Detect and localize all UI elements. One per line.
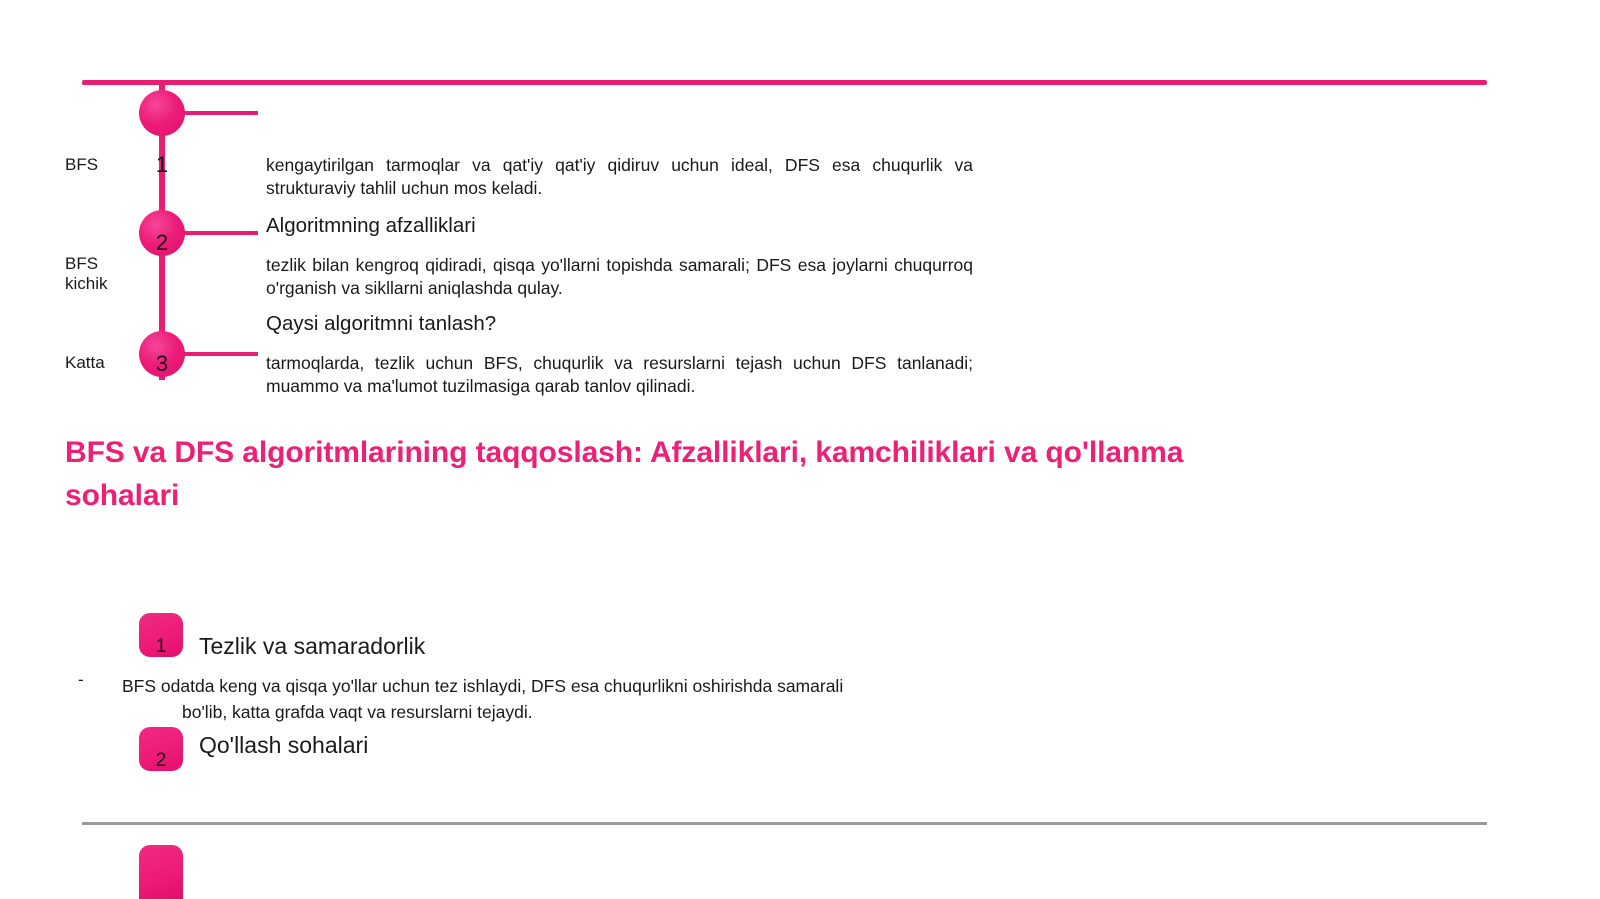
timeline-connector-2 [180, 231, 258, 235]
section-badge-3-partial [139, 845, 183, 899]
bullet-text-1-line2: bo'lib, katta grafda vaqt va resurslarni… [122, 699, 1017, 725]
timeline-body-1: kengaytirilgan tarmoqlar va qat'iy qat'i… [266, 154, 973, 201]
section-badge-number-2: 2 [139, 751, 183, 770]
timeline-node-2: 2 [139, 210, 185, 256]
timeline-number-2: 2 [139, 232, 185, 254]
section-badge-number-1: 1 [139, 637, 183, 656]
timeline-side-label-3: Katta [65, 353, 155, 373]
timeline-heading-1: Algoritmning afzalliklari [266, 213, 476, 239]
timeline-heading-2: Qaysi algoritmni tanlash? [266, 311, 496, 337]
bullet-text-1: BFS odatda keng va qisqa yo'llar uchun t… [122, 673, 1017, 726]
page-title: BFS va DFS algoritmlarining taqqoslash: … [65, 432, 1185, 517]
timeline-connector-3 [180, 352, 258, 356]
timeline-side-label-2-line1: BFS [65, 254, 98, 273]
timeline-side-label-1: BFS [65, 155, 155, 175]
timeline-side-label-2: BFS kichik [65, 254, 155, 294]
timeline-connector-top [180, 111, 258, 115]
bullet-marker-1: - [78, 670, 84, 690]
timeline-body-3: tarmoqlarda, tezlik uchun BFS, chuqurlik… [266, 352, 973, 399]
section-badge-2: 2 [139, 727, 183, 771]
section-badge-1: 1 [139, 613, 183, 657]
bullet-text-1-line1: BFS odatda keng va qisqa yo'llar uchun t… [122, 676, 843, 696]
timeline-side-label-2-line2: kichik [65, 274, 108, 293]
bottom-divider [82, 822, 1487, 825]
timeline-node-top [139, 90, 185, 136]
section-title-1: Tezlik va samaradorlik [199, 633, 425, 661]
top-accent-rule [82, 80, 1487, 85]
section-title-2: Qo'llash sohalari [199, 732, 368, 760]
timeline-body-2: tezlik bilan kengroq qidiradi, qisqa yo'… [266, 254, 973, 301]
